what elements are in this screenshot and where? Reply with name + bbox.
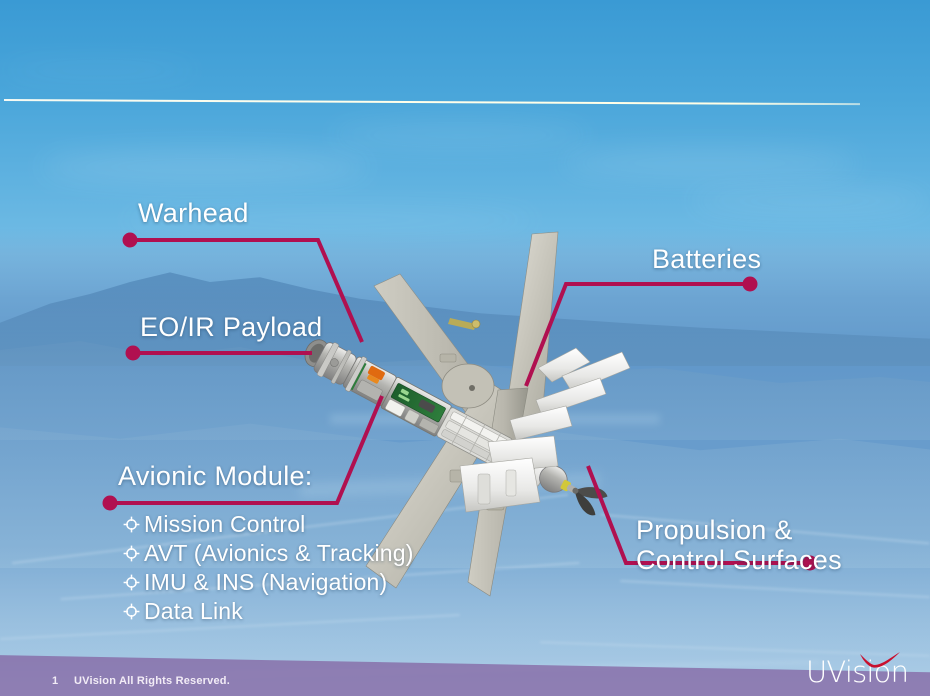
list-item: AVT (Avionics & Tracking) <box>118 539 478 567</box>
slide-number: 1 <box>52 675 58 687</box>
presentation-slide: Warhead EO/IR Payload Avionic Module: Ba… <box>0 0 930 696</box>
callout-label-batteries: Batteries <box>652 244 761 274</box>
list-item-label: IMU & INS (Navigation) <box>144 569 387 596</box>
crosshair-bullet-icon <box>118 516 144 533</box>
leader-dot-eoir <box>126 346 141 361</box>
list-item: Mission Control <box>118 510 478 538</box>
list-item: Data Link <box>118 597 478 625</box>
uvision-logo: UVision <box>806 652 918 692</box>
leader-dot-avionic <box>103 496 118 511</box>
callout-label-eoir: EO/IR Payload <box>140 312 323 342</box>
list-item-label: AVT (Avionics & Tracking) <box>144 540 414 567</box>
callout-label-propulsion-line1: Propulsion & <box>636 515 842 545</box>
callout-label-propulsion-control-surfaces: Propulsion & Control Surfaces <box>636 515 842 575</box>
crosshair-bullet-icon <box>118 603 144 620</box>
leader-dot-batteries <box>743 277 758 292</box>
callout-label-propulsion-line2: Control Surfaces <box>636 545 842 575</box>
leader-line-batteries <box>526 284 750 386</box>
crosshair-bullet-icon <box>118 574 144 591</box>
list-item: IMU & INS (Navigation) <box>118 568 478 596</box>
leader-dot-warhead <box>123 233 138 248</box>
copyright-notice: UVision All Rights Reserved. <box>74 675 230 687</box>
avionic-module-bullet-list: Mission Control AVT (Avionics & Tracking… <box>118 510 478 626</box>
list-item-label: Data Link <box>144 598 243 625</box>
list-item-label: Mission Control <box>144 511 306 538</box>
crosshair-bullet-icon <box>118 545 144 562</box>
callout-label-avionic-module: Avionic Module: <box>118 461 313 491</box>
callout-label-warhead: Warhead <box>138 198 249 228</box>
checkmark-swoosh-icon <box>858 652 902 668</box>
